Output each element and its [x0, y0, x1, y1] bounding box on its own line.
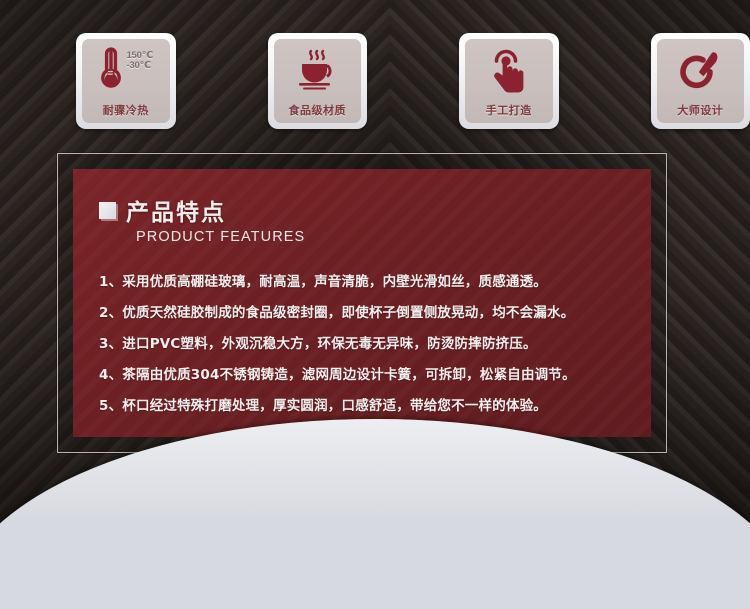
badge-temp-low: -30℃ — [126, 61, 150, 71]
badge-label-heat-resistance: 耐骤冷热 — [82, 102, 170, 118]
list-item: 4、茶隔由优质304不锈钢铸造，滤网周边设计卡簧，可拆卸，松紧自由调节。 — [99, 357, 651, 388]
product-features-inner: 产品特点 PRODUCT FEATURES 1、采用优质高硼硅玻璃，耐高温，声音… — [73, 169, 651, 437]
badge-label-food-grade: 食品级材质 — [274, 102, 362, 118]
badge-face: 150℃ -30℃ 耐骤冷热 — [82, 39, 170, 123]
badge-label-master-design: 大师设计 — [657, 102, 745, 118]
badge-face: 大师设计 — [657, 39, 745, 123]
design-pen-icon — [669, 46, 731, 94]
page-title: 产品特点 — [99, 193, 651, 227]
badge-card-heat-resistance[interactable]: 150℃ -30℃ 耐骤冷热 — [76, 33, 176, 129]
badge-card-handmade[interactable]: 手工打造 — [459, 33, 559, 129]
page-title-en: PRODUCT FEATURES — [136, 229, 651, 245]
list-item: 1、采用优质高硼硅玻璃，耐高温，声音清脆，内壁光滑如丝，质感通透。 — [99, 264, 651, 295]
list-item: 5、杯口经过特殊打磨处理，厚实圆润，口感舒适，带给您不一样的体验。 — [99, 388, 651, 419]
badge-card-master-design[interactable]: 大师设计 — [651, 33, 750, 129]
list-item: 2、优质天然硅胶制成的食品级密封圈，即使杯子倒置侧放晃动，均不会漏水。 — [99, 295, 651, 326]
product-features-content: 产品特点 PRODUCT FEATURES 1、采用优质高硼硅玻璃，耐高温，声音… — [73, 169, 651, 419]
list-item: 3、进口PVC塑料，外观沉稳大方，环保无毒无异味，防烫防摔防挤压。 — [99, 326, 651, 357]
badge-card-food-grade[interactable]: 食品级材质 — [268, 33, 368, 129]
page-title-cn: 产品特点 — [126, 193, 226, 227]
badge-label-handmade: 手工打造 — [465, 102, 553, 118]
hand-touch-icon — [478, 46, 540, 94]
feature-badge-row: 150℃ -30℃ 耐骤冷热 — [0, 33, 750, 136]
coffee-cup-icon — [286, 46, 348, 94]
badge-face: 食品级材质 — [274, 39, 362, 123]
badge-face: 手工打造 — [465, 39, 553, 123]
feature-list: 1、采用优质高硼硅玻璃，耐高温，声音清脆，内壁光滑如丝，质感通透。 2、优质天然… — [99, 264, 651, 419]
square-bullet-icon — [99, 202, 116, 219]
thermometer-icon: 150℃ -30℃ — [98, 46, 153, 94]
product-features-panel: 产品特点 PRODUCT FEATURES 1、采用优质高硼硅玻璃，耐高温，声音… — [57, 153, 667, 453]
